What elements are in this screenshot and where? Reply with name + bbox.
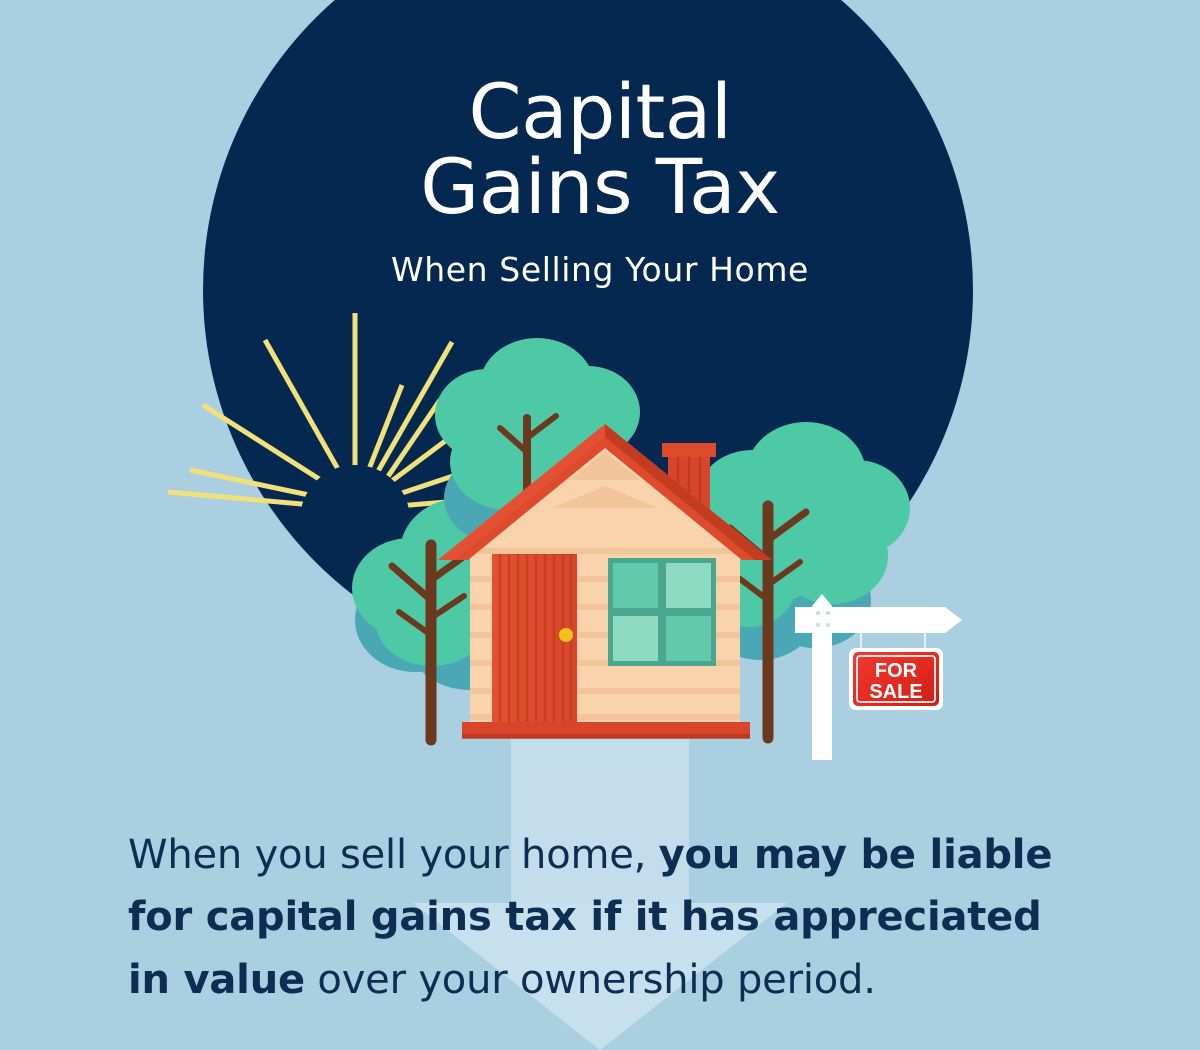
caption-part-regular-2: over your ownership period. [305,957,876,1003]
infographic-poster: FOR SALE Capital Gains Tax When Selling … [0,0,1200,1050]
window-icon [608,558,716,666]
caption-part-regular-1: When you sell your home, [128,832,659,878]
for-sale-line-1: FOR [875,660,918,682]
doorknob-icon [559,628,573,642]
front-door-icon [492,554,577,726]
caption-paragraph: When you sell your home, you may be liab… [128,824,1058,1011]
for-sale-line-2: SALE [869,681,922,703]
